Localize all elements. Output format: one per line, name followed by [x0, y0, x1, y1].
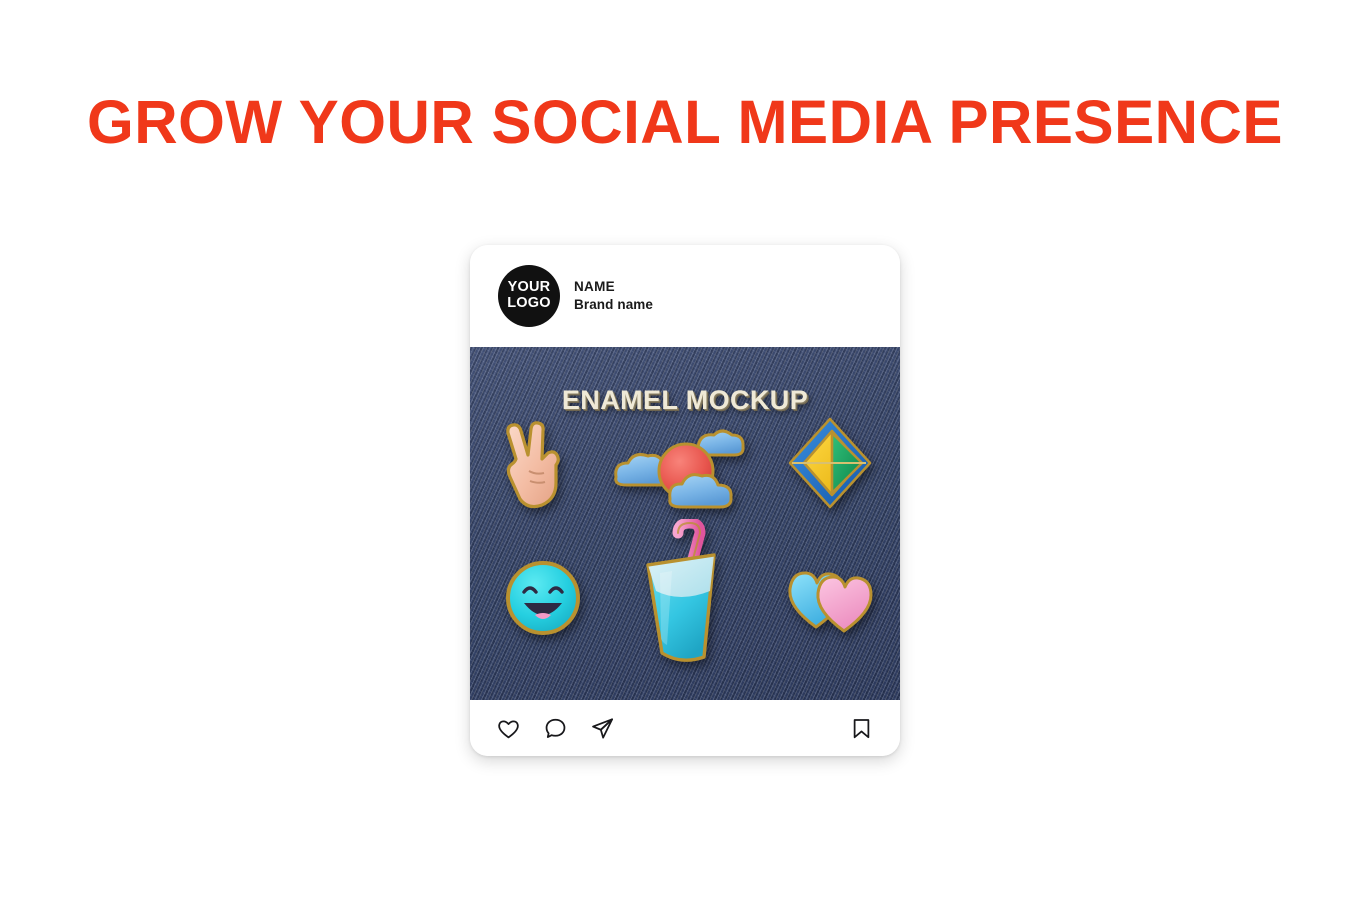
share-icon[interactable]: [590, 716, 615, 741]
account-info: NAME Brand name: [574, 279, 653, 314]
post-actions-right: [849, 716, 874, 741]
avatar-line-2: LOGO: [507, 296, 551, 312]
brand-name: Brand name: [574, 297, 653, 312]
post-header: YOUR LOGO NAME Brand name: [470, 245, 900, 347]
heart-icon[interactable]: [496, 716, 521, 741]
clouds-sun-pin: [610, 425, 762, 513]
post-media-image[interactable]: ENAMEL MOCKUP: [470, 347, 900, 700]
account-name[interactable]: NAME: [574, 279, 653, 294]
avatar-line-1: YOUR: [508, 280, 551, 296]
avatar[interactable]: YOUR LOGO: [498, 265, 560, 327]
bookmark-icon[interactable]: [849, 716, 874, 741]
mockup-overlay-title: ENAMEL MOCKUP: [470, 385, 900, 416]
social-post-card: YOUR LOGO NAME Brand name ENAMEL MOCKUP: [470, 245, 900, 756]
kite-pin: [786, 415, 874, 511]
peace-hand-pin: [498, 419, 570, 511]
page-title: GROW YOUR SOCIAL MEDIA PRESENCE: [10, 92, 1359, 153]
post-actions-left: [496, 716, 615, 741]
post-action-bar: [470, 700, 900, 756]
smiley-face-pin: [504, 559, 582, 637]
comment-icon[interactable]: [543, 716, 568, 741]
drink-cup-pin: [638, 519, 724, 667]
hearts-pin: [786, 565, 874, 635]
